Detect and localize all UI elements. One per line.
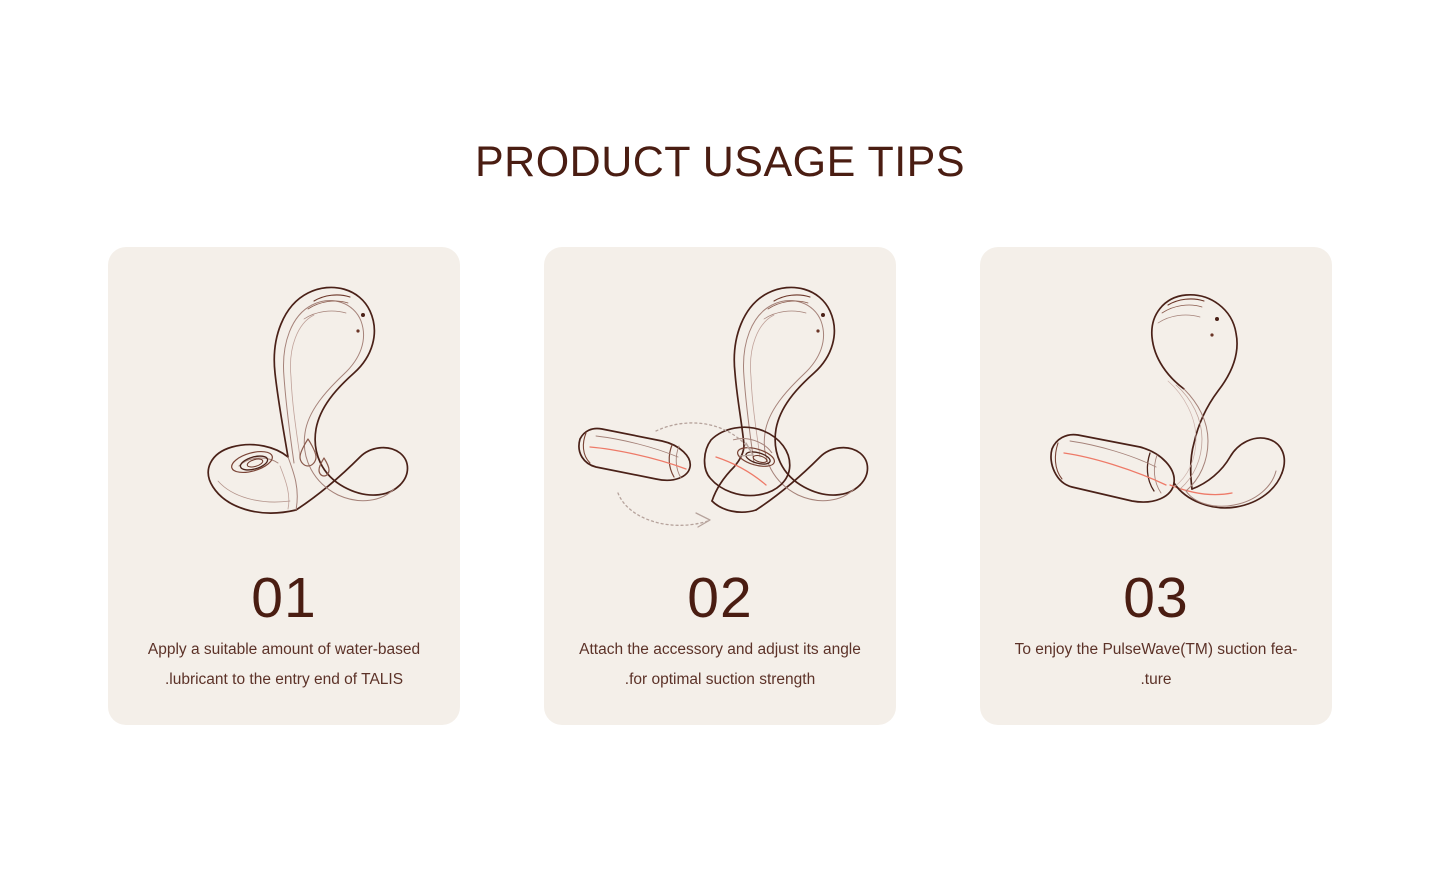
step-description: Attach the accessory and adjust its angl… <box>558 635 882 695</box>
step-description: Apply a suitable amount of water-based .… <box>122 635 446 695</box>
product-with-attached-accessory-icon <box>980 257 1332 557</box>
product-with-detached-accessory-rotation-arrows-icon <box>544 257 896 557</box>
step-number: 03 <box>980 565 1332 631</box>
step-description-line-1: Apply a suitable amount of water-based <box>122 635 446 665</box>
step-description-line-2: .lubricant to the entry end of TALIS <box>122 665 446 695</box>
step-card-02[interactable]: 02 Attach the accessory and adjust its a… <box>544 247 896 725</box>
step-number: 02 <box>544 565 896 631</box>
step-description-line-2: .ture <box>994 665 1318 695</box>
step-description-line-1: To enjoy the PulseWave(TM) suction fea- <box>994 635 1318 665</box>
step-card-03[interactable]: 03 To enjoy the PulseWave(TM) suction fe… <box>980 247 1332 725</box>
step-card-01[interactable]: 01 Apply a suitable amount of water-base… <box>108 247 460 725</box>
page-title: PRODUCT USAGE TIPS <box>0 136 1440 188</box>
step-description-line-1: Attach the accessory and adjust its angl… <box>558 635 882 665</box>
steps-card-row: 01 Apply a suitable amount of water-base… <box>108 247 1332 725</box>
step-number: 01 <box>108 565 460 631</box>
step-description: To enjoy the PulseWave(TM) suction fea- … <box>994 635 1318 695</box>
step-description-line-2: .for optimal suction strength <box>558 665 882 695</box>
product-usage-tips-page: PRODUCT USAGE TIPS <box>0 0 1440 880</box>
product-with-lubricant-drops-icon <box>108 257 460 557</box>
